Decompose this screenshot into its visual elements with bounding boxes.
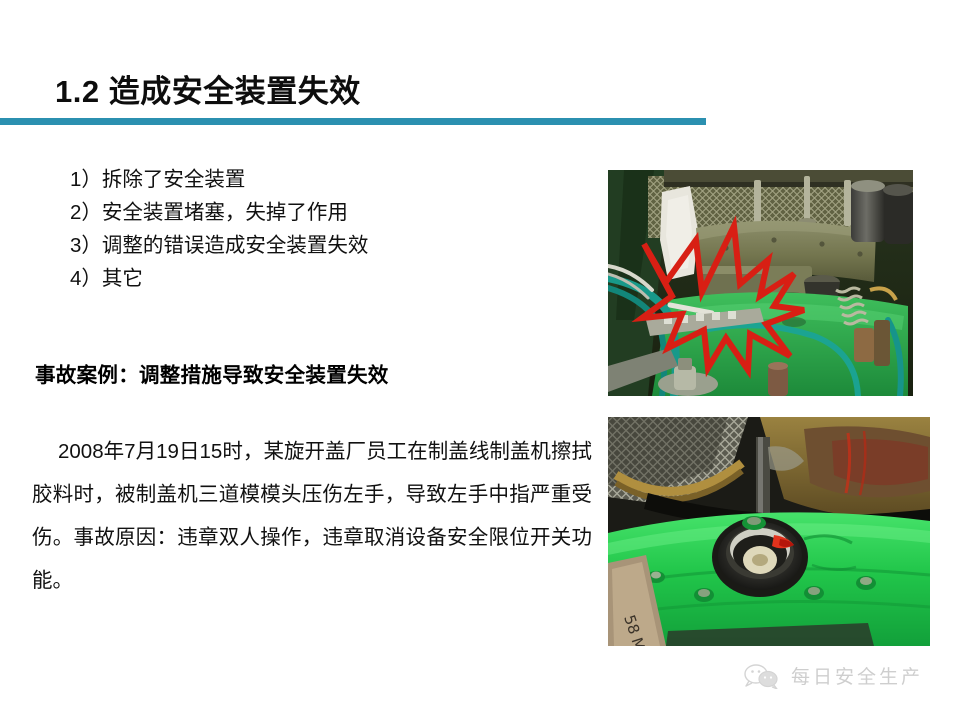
wechat-icon <box>742 663 782 689</box>
die-head-illustration: 58 MM <box>608 417 930 646</box>
watermark-text: 每日安全生产 <box>791 662 923 689</box>
photo-die-head-closeup: 58 MM <box>608 417 930 646</box>
page-title: 1.2 造成安全装置失效 <box>55 66 361 111</box>
case-study-heading: 事故案例：调整措施导致安全装置失效 <box>35 358 389 388</box>
case-study-body: 2008年7月19日15时，某旋开盖厂员工在制盖线制盖机擦拭胶料时，被制盖机三道… <box>32 430 592 602</box>
list-item: 3）调整的错误造成安全装置失效 <box>70 229 590 262</box>
watermark: 每日安全生产 <box>742 662 923 689</box>
list-item: 1）拆除了安全装置 <box>70 163 590 196</box>
capping-machine-illustration <box>608 170 913 396</box>
list-item: 2）安全装置堵塞，失掉了作用 <box>70 196 590 229</box>
photo-capping-machine-overview <box>608 170 913 396</box>
title-underline-rule <box>0 118 706 125</box>
list-item: 4）其它 <box>70 262 590 295</box>
cause-list: 1）拆除了安全装置 2）安全装置堵塞，失掉了作用 3）调整的错误造成安全装置失效… <box>70 163 590 295</box>
